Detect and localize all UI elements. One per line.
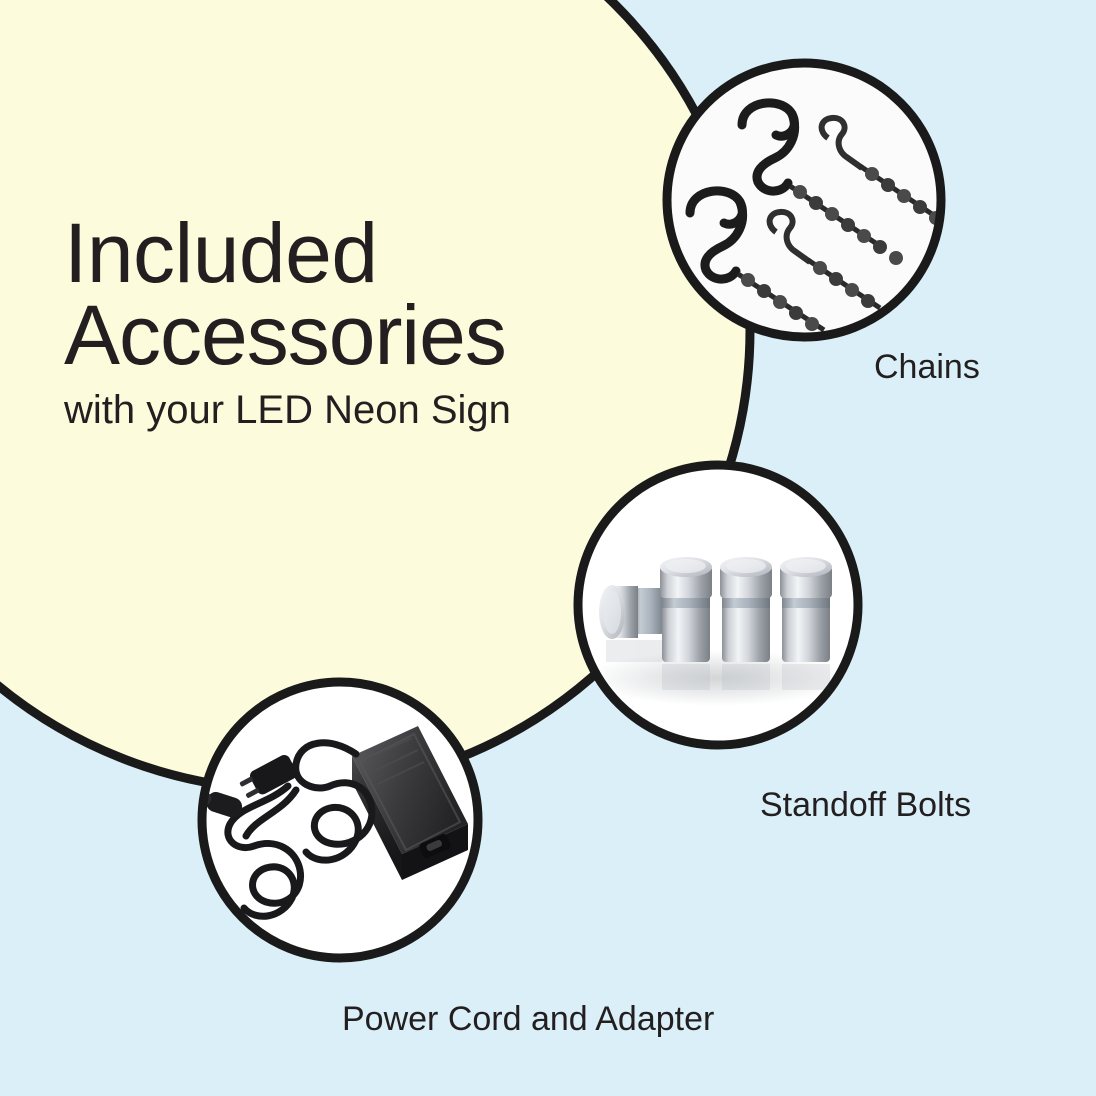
caption-power-cord: Power Cord and Adapter	[342, 1000, 714, 1039]
heading-line-2: Accessories	[64, 294, 704, 376]
heading-subtitle: with your LED Neon Sign	[64, 389, 704, 431]
caption-chains: Chains	[874, 348, 980, 387]
accessories-infographic: Included Accessories with your LED Neon …	[0, 0, 1096, 1096]
caption-standoff-bolts: Standoff Bolts	[760, 786, 971, 825]
heading-block: Included Accessories with your LED Neon …	[64, 212, 704, 431]
heading-line-1: Included	[64, 212, 704, 294]
